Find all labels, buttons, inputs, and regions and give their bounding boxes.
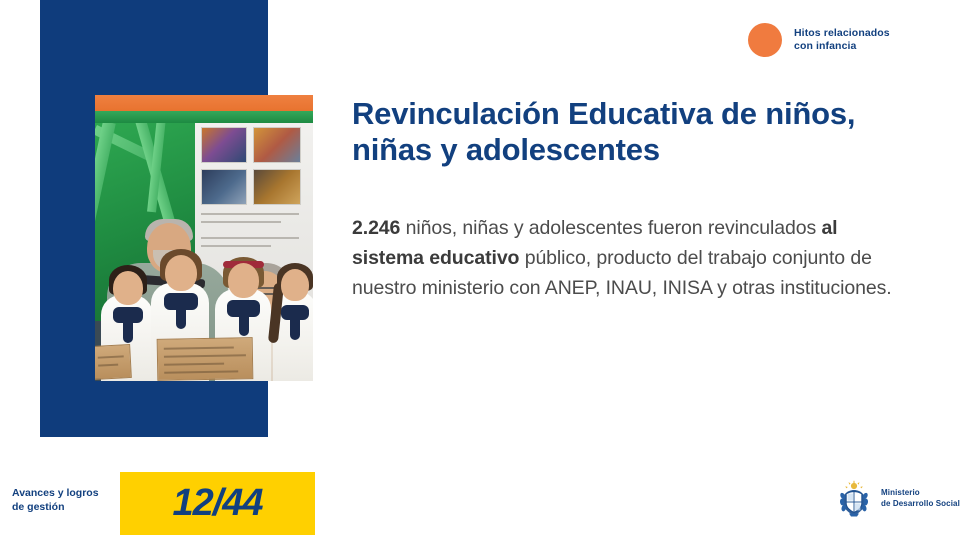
header-badge-label: Hitos relacionados con infancia — [794, 27, 890, 54]
slide-canvas: Hitos relacionados con infancia Revincul… — [0, 0, 960, 540]
uruguay-coat-of-arms-icon — [836, 480, 872, 518]
slide-counter: 12/44 — [120, 472, 315, 535]
photo-orange-banner — [95, 95, 313, 111]
board-text-line — [201, 237, 299, 239]
photo-cardboard-sign — [95, 344, 132, 380]
page-title: Revinculación Educativa de niños, niñas … — [352, 96, 892, 169]
photo-child-bow — [113, 307, 143, 323]
board-text-line — [201, 213, 299, 215]
photo-child-bow — [227, 300, 260, 317]
photo-child-face — [165, 255, 197, 291]
photo-child-bow — [164, 293, 198, 310]
board-text-line — [201, 245, 271, 247]
stat-figure: 2.246 — [352, 217, 400, 239]
ministry-logo: Ministerio de Desarrollo Social — [836, 480, 960, 518]
photo-child — [273, 259, 313, 381]
photo-child-face — [113, 271, 143, 305]
photo-child-face — [281, 269, 309, 301]
feature-photo — [95, 95, 313, 381]
board-text-line — [201, 221, 281, 223]
board-thumbnail — [201, 127, 247, 163]
body-segment-1: niños, niñas y adolescentes fueron revin… — [400, 217, 821, 239]
photo-child-bow — [281, 305, 309, 320]
board-thumbnail — [253, 127, 301, 163]
board-thumbnail — [201, 169, 247, 205]
board-thumbnail — [253, 169, 301, 205]
photo-green-strip — [95, 111, 313, 123]
body-paragraph: 2.246 niños, niñas y adolescentes fueron… — [352, 214, 912, 303]
header-badge: Hitos relacionados con infancia — [748, 23, 890, 57]
orange-circle-icon — [748, 23, 782, 57]
section-label: Avances y logros de gestión — [12, 487, 99, 514]
slide-counter-value: 12/44 — [172, 482, 262, 525]
photo-cardboard-sign — [157, 337, 254, 381]
ministry-name: Ministerio de Desarrollo Social — [881, 488, 960, 510]
photo-child-face — [228, 263, 259, 298]
